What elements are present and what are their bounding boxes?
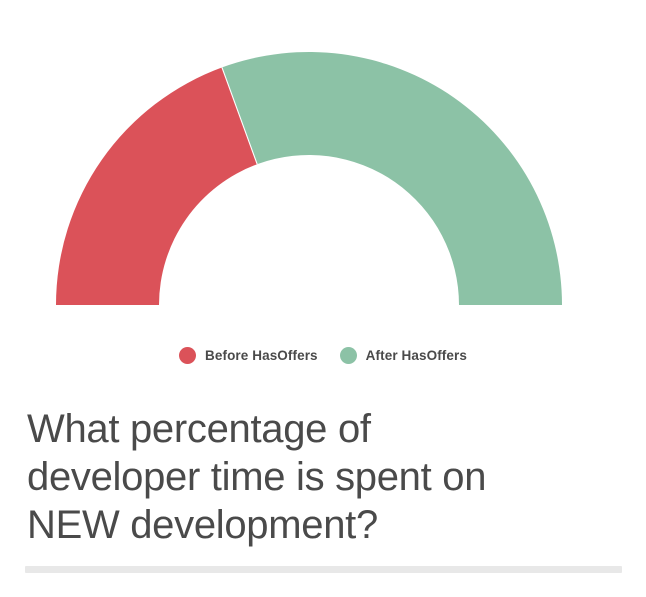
page-title: What percentage of developer time is spe… [27, 405, 627, 549]
gauge-segment-before-hasoffers[interactable] [56, 67, 258, 305]
legend-item-label: After HasOffers [366, 348, 467, 363]
legend-item-label: Before HasOffers [205, 348, 318, 363]
legend-item-before-hasoffers[interactable]: Before HasOffers [179, 347, 318, 364]
legend-item-after-hasoffers[interactable]: After HasOffers [340, 347, 467, 364]
infographic-card: Before HasOffers After HasOffers What pe… [0, 0, 646, 597]
half-donut-gauge-chart [0, 0, 646, 320]
footer-divider [25, 566, 622, 573]
circle-swatch-icon [340, 347, 357, 364]
page-title-line-2: developer time is spent on [27, 453, 627, 501]
gauge-svg [0, 0, 646, 320]
chart-legend: Before HasOffers After HasOffers [0, 340, 646, 370]
page-title-line-3: NEW development? [27, 501, 627, 549]
page-title-line-1: What percentage of [27, 405, 627, 453]
circle-swatch-icon [179, 347, 196, 364]
gauge-segment-after-hasoffers[interactable] [222, 52, 562, 305]
